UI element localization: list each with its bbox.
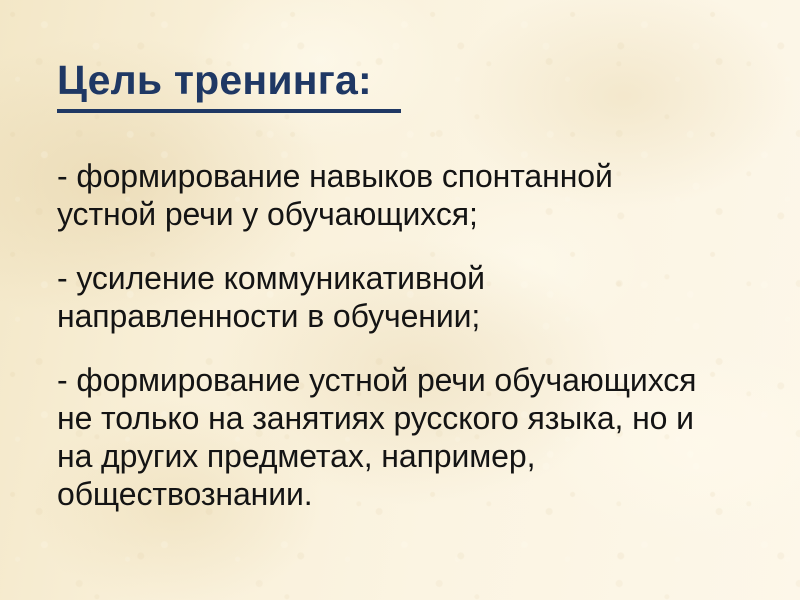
bullet-list: - формирование навыков спонтанной устной… [57,157,757,513]
bullet-item-1: - формирование навыков спонтанной устной… [57,157,757,233]
title-underline-rule [57,109,401,113]
presentation-slide: Цель тренинга: - формирование навыков сп… [0,0,800,600]
bullet-item-2: - усиление коммуникативной направленност… [57,259,757,335]
bullet-item-3: - формирование устной речи обучающихся н… [57,361,757,513]
slide-content: Цель тренинга: - формирование навыков сп… [57,0,760,600]
page-title: Цель тренинга: [57,58,372,104]
